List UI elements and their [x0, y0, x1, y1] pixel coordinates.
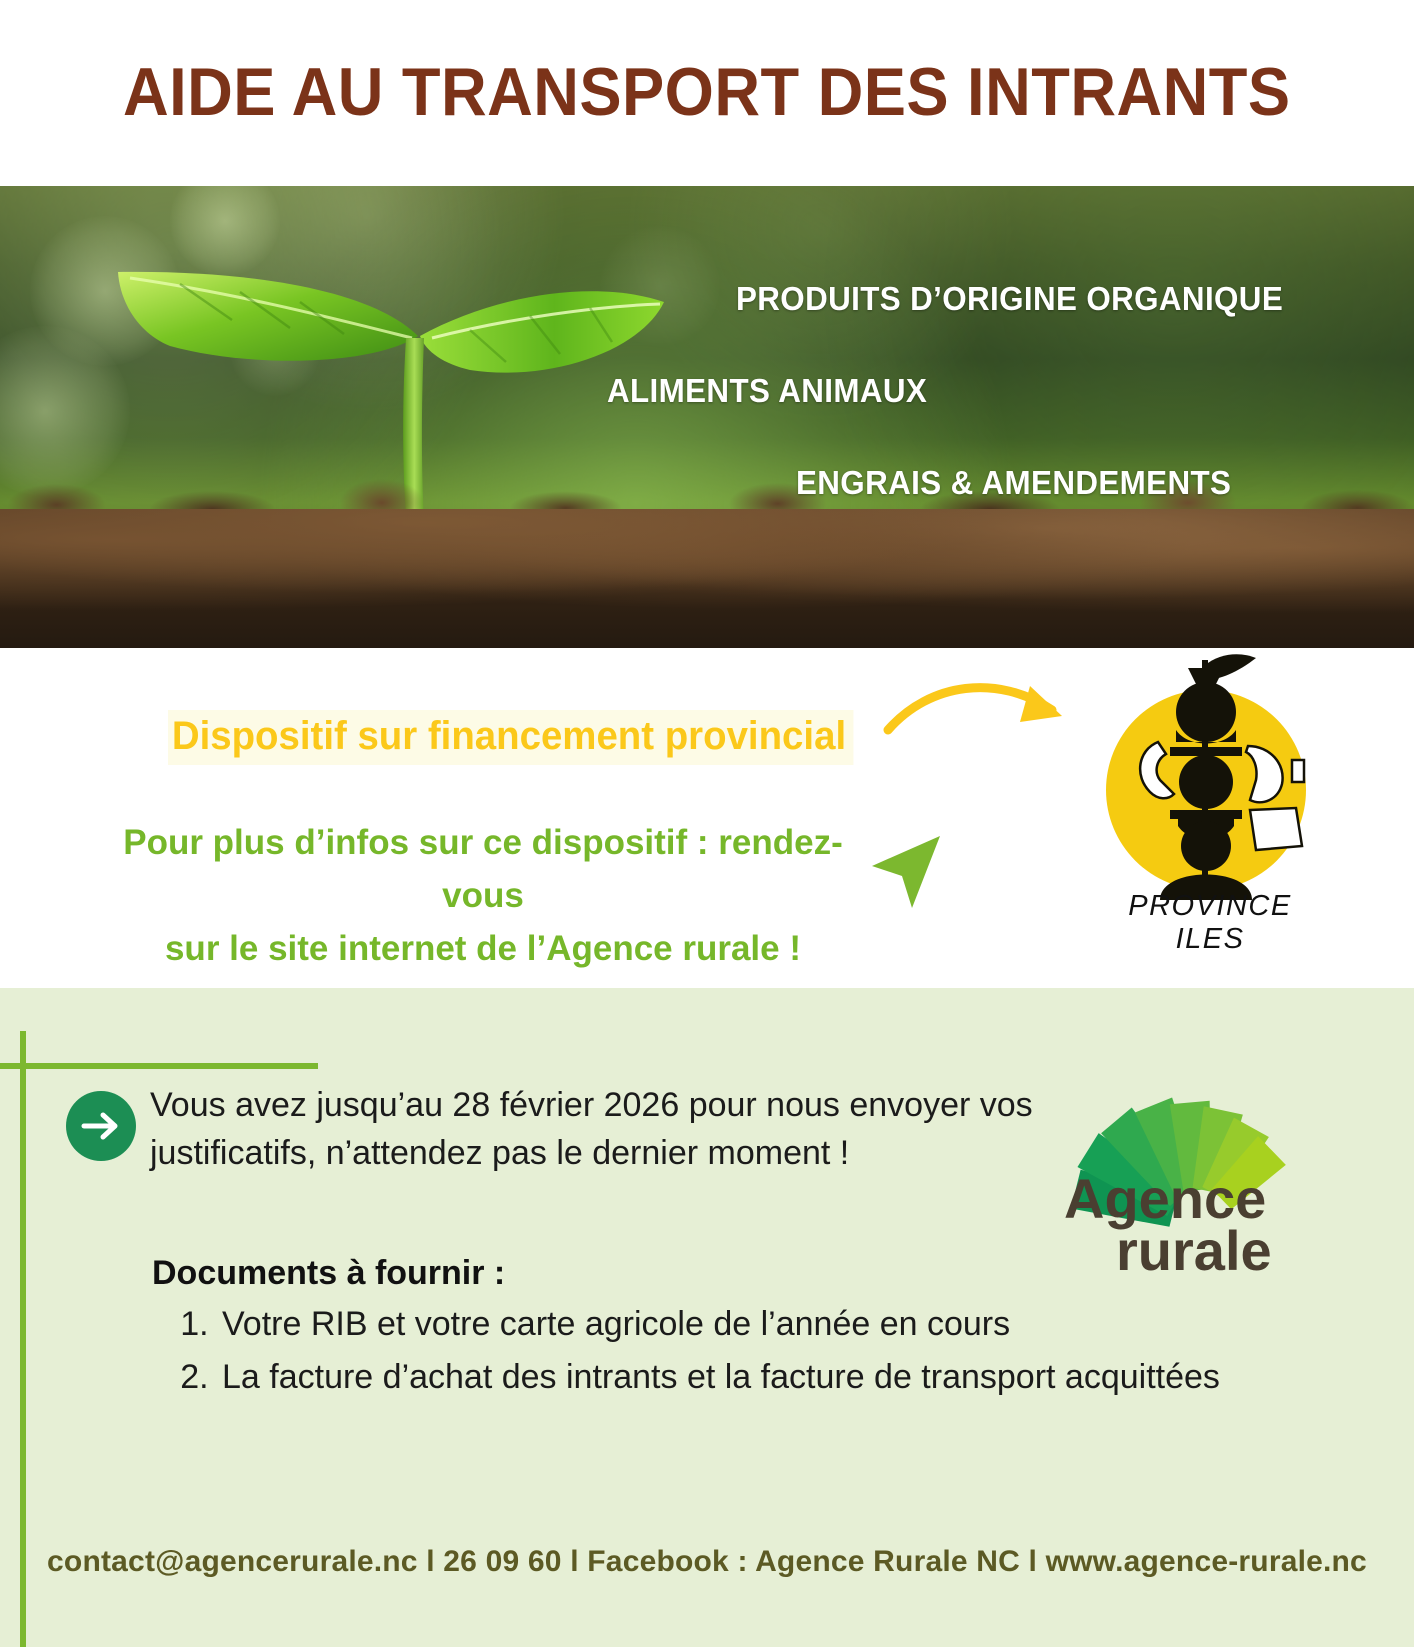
- hero-label-produits: PRODUITS D’ORIGINE ORGANIQUE: [736, 280, 1283, 318]
- deadline-line-1: Vous avez jusqu’au 28 février 2026 pour …: [150, 1086, 1033, 1124]
- footer-contact: contact@agencerurale.nc l 26 09 60 l Fac…: [0, 1545, 1414, 1579]
- deadline-line-2: justificatifs, n’attendez pas le dernier…: [150, 1129, 1050, 1177]
- info-line-2: sur le site internet de l’Agence rurale …: [165, 929, 801, 968]
- list-item: La facture d’achat des intrants et la fa…: [218, 1351, 1220, 1404]
- info-headline: Pour plus d’infos sur ce dispositif : re…: [88, 816, 878, 976]
- arrow-badge: [66, 1091, 136, 1161]
- province-iles-caption: PROVINCE ILES: [1096, 890, 1324, 956]
- agence-rurale-logo: Agence rurale: [1050, 1068, 1340, 1273]
- agence-logo-line-2: rurale: [1116, 1219, 1272, 1273]
- agence-rurale-mark: Agence rurale: [1050, 1068, 1340, 1273]
- province-iles-logo: PROVINCE ILES: [1096, 650, 1324, 962]
- title-band: AIDE AU TRANSPORT DES INTRANTS: [0, 0, 1414, 186]
- deadline-notice: Vous avez jusqu’au 28 février 2026 pour …: [150, 1081, 1050, 1178]
- hero-label-engrais: ENGRAIS & AMENDEMENTS: [796, 464, 1231, 502]
- page-title: AIDE AU TRANSPORT DES INTRANTS: [123, 57, 1291, 128]
- list-item: Votre RIB et votre carte agricole de l’a…: [218, 1298, 1220, 1351]
- middle-section: Dispositif sur financement provincial Po…: [0, 648, 1414, 988]
- mouse-cursor-icon: [862, 828, 952, 918]
- poster-root: AIDE AU TRANSPORT DES INTRANTS: [0, 0, 1414, 1647]
- funding-headline: Dispositif sur financement provincial: [168, 710, 854, 765]
- curved-arrow-icon: [880, 668, 1080, 778]
- documents-list: Votre RIB et votre carte agricole de l’a…: [176, 1298, 1220, 1403]
- info-line-1: Pour plus d’infos sur ce dispositif : re…: [123, 823, 843, 915]
- hero-label-list: PRODUITS D’ORIGINE ORGANIQUE ALIMENTS AN…: [0, 186, 1414, 648]
- province-iles-mark: [1096, 650, 1324, 920]
- hero-image: PRODUITS D’ORIGINE ORGANIQUE ALIMENTS AN…: [0, 186, 1414, 648]
- hero-label-aliments: ALIMENTS ANIMAUX: [607, 372, 927, 410]
- decorative-horizontal-line: [0, 1063, 318, 1069]
- documents-title: Documents à fournir :: [152, 1254, 505, 1293]
- arrow-right-icon: [81, 1109, 121, 1143]
